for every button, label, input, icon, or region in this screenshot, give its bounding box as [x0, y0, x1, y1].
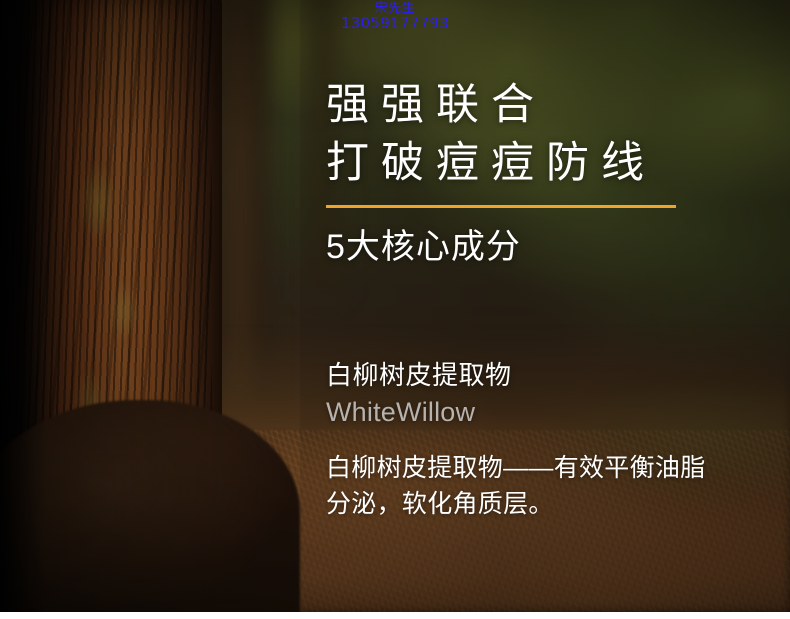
orange-divider [326, 205, 676, 208]
ingredient-block: 白柳树皮提取物 WhiteWillow [326, 358, 512, 428]
headline: 强强联合 打破痘痘防线 [326, 76, 656, 192]
promo-poster: 宋先生 13059177793 强强联合 打破痘痘防线 5大核心成分 白柳树皮提… [0, 0, 790, 619]
ingredient-name-en: WhiteWillow [326, 396, 512, 428]
content-column: 强强联合 打破痘痘防线 5大核心成分 白柳树皮提取物 WhiteWillow 白… [326, 0, 746, 612]
headline-line-2: 打破痘痘防线 [326, 134, 656, 192]
ingredient-name-cn: 白柳树皮提取物 [326, 358, 512, 392]
bottom-white-band [0, 612, 790, 619]
headline-line-1: 强强联合 [326, 76, 656, 134]
subtitle: 5大核心成分 [326, 224, 521, 270]
ingredient-description: 白柳树皮提取物——有效平衡油脂分泌，软化角质层。 [326, 450, 716, 522]
